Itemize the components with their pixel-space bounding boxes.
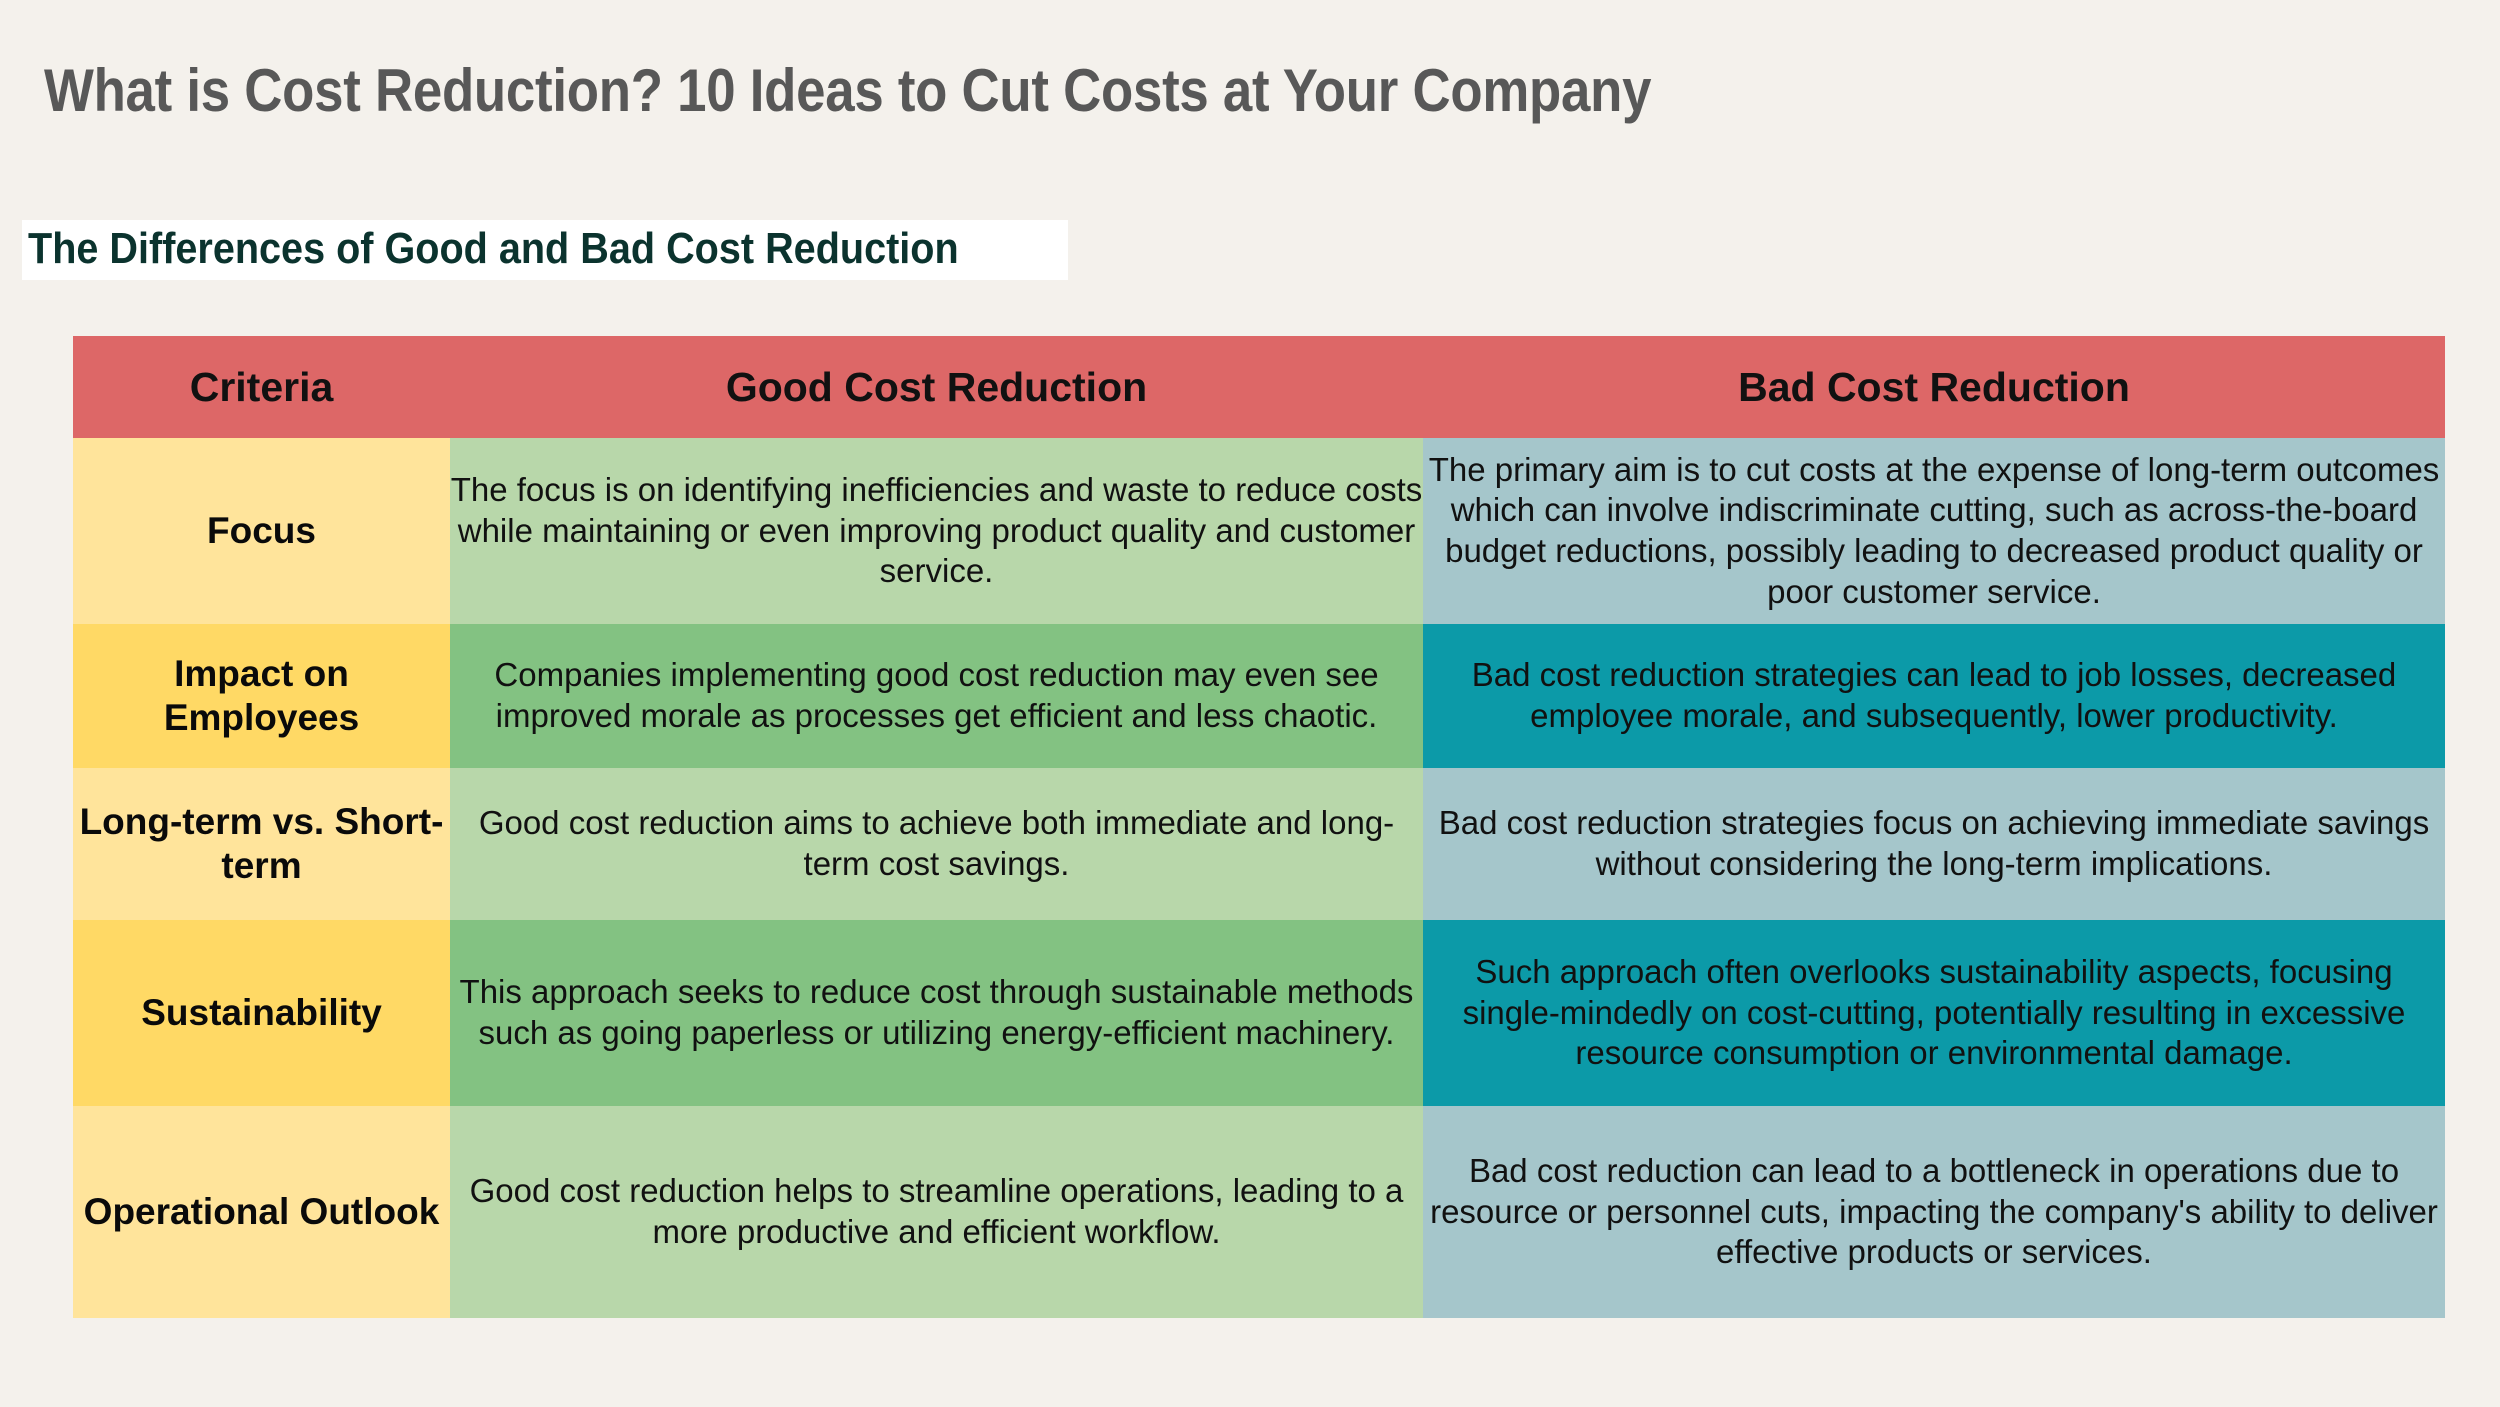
bad-cell: Such approach often overlooks sustainabi… xyxy=(1423,920,2445,1106)
good-cell: The focus is on identifying inefficienci… xyxy=(450,438,1423,624)
criteria-cell: Sustainability xyxy=(73,920,450,1106)
subtitle-highlight: The Differences of Good and Bad Cost Red… xyxy=(22,220,1068,280)
column-header-bad-label: Bad Cost Reduction xyxy=(1423,364,2445,411)
criteria-cell: Impact on Employees xyxy=(73,624,450,768)
page-root: What is Cost Reduction? 10 Ideas to Cut … xyxy=(0,0,2500,1407)
table-row: Operational Outlook Good cost reduction … xyxy=(73,1106,2445,1318)
subtitle-text: The Differences of Good and Bad Cost Red… xyxy=(28,224,959,274)
table-header-row: Criteria Good Cost Reduction Bad Cost Re… xyxy=(73,336,2445,438)
criteria-cell: Focus xyxy=(73,438,450,624)
good-cell: Good cost reduction aims to achieve both… xyxy=(450,768,1423,920)
bad-cell: Bad cost reduction can lead to a bottlen… xyxy=(1423,1106,2445,1318)
table-row: Sustainability This approach seeks to re… xyxy=(73,920,2445,1106)
good-cell: Good cost reduction helps to streamline … xyxy=(450,1106,1423,1318)
column-header-criteria: Criteria xyxy=(73,336,450,438)
column-header-good: Good Cost Reduction xyxy=(450,336,1423,438)
column-header-good-label: Good Cost Reduction xyxy=(450,364,1423,411)
bad-cell: Bad cost reduction strategies can lead t… xyxy=(1423,624,2445,768)
criteria-cell: Long-term vs. Short-term xyxy=(73,768,450,920)
bad-cell: Bad cost reduction strategies focus on a… xyxy=(1423,768,2445,920)
column-header-criteria-label: Criteria xyxy=(73,364,450,411)
page-title: What is Cost Reduction? 10 Ideas to Cut … xyxy=(44,56,1651,125)
table-row: Focus The focus is on identifying ineffi… xyxy=(73,438,2445,624)
criteria-cell: Operational Outlook xyxy=(73,1106,450,1318)
good-cell: This approach seeks to reduce cost throu… xyxy=(450,920,1423,1106)
bad-cell: The primary aim is to cut costs at the e… xyxy=(1423,438,2445,624)
table-row: Impact on Employees Companies implementi… xyxy=(73,624,2445,768)
good-cell: Companies implementing good cost reducti… xyxy=(450,624,1423,768)
comparison-table: Criteria Good Cost Reduction Bad Cost Re… xyxy=(73,336,2445,1318)
column-header-bad: Bad Cost Reduction xyxy=(1423,336,2445,438)
table-row: Long-term vs. Short-term Good cost reduc… xyxy=(73,768,2445,920)
